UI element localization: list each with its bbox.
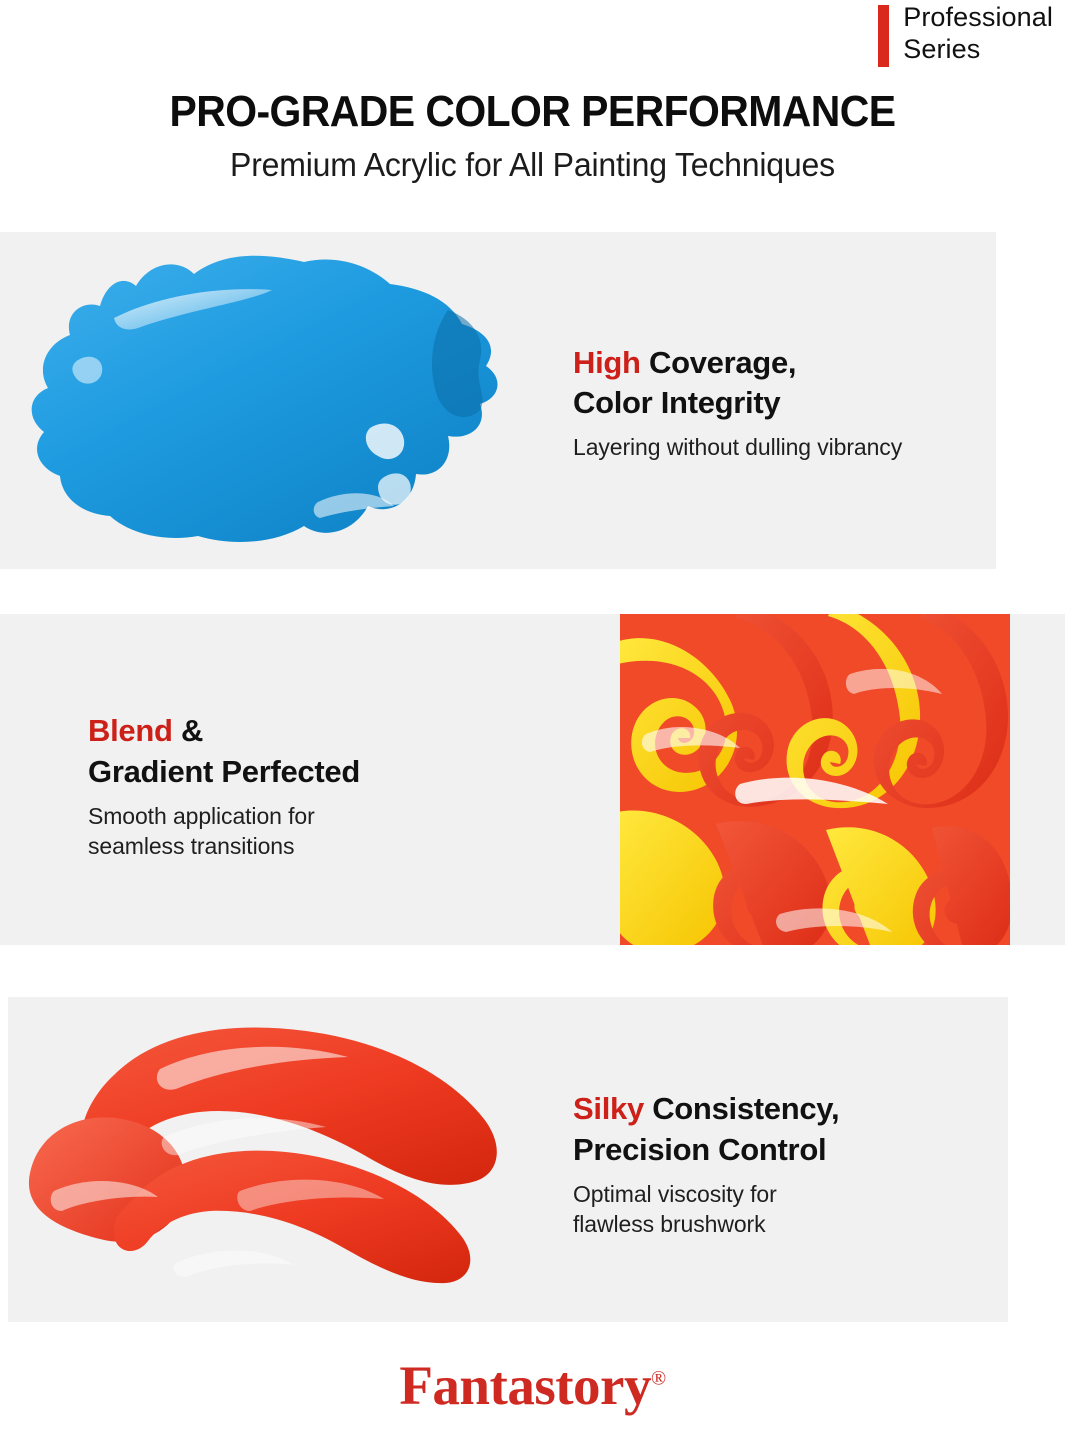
feature-caption-silky-consistency: Optimal viscosity for flawless brushwork [573,1179,839,1240]
feature-caption-high-coverage: Layering without dulling vibrancy [573,432,902,462]
feature-heading-line2: Color Integrity [573,385,780,420]
feature-caption-line-2: flawless brushwork [573,1209,839,1239]
brand-name: Fantastory [399,1355,651,1416]
feature-heading-silky-consistency: Silky Consistency, Precision Control [573,1089,839,1170]
feature-heading-rest: Coverage, [641,345,797,380]
red-paint-swatch-image [18,1015,518,1305]
professional-series-badge: Professional Series [878,2,1053,67]
page-title: PRO-GRADE COLOR PERFORMANCE [37,88,1027,136]
feature-heading-accent: Blend [88,713,173,748]
page-subtitle: Premium Acrylic for All Painting Techniq… [16,146,1049,184]
feature-heading-line2: Precision Control [573,1132,826,1167]
feature-heading-accent: Silky [573,1091,644,1126]
feature-panel-blend-gradient: Blend & Gradient Perfected Smooth applic… [0,614,1065,945]
feature-heading-rest: & [173,713,203,748]
badge-line-2: Series [903,34,1053,66]
footer: Fantastory® [0,1358,1065,1413]
registered-trademark-icon: ® [651,1368,666,1390]
feature-panel-high-coverage: High Coverage, Color Integrity Layering … [0,232,996,569]
badge-accent-bar [878,5,889,67]
feature-heading-rest: Consistency, [644,1091,839,1126]
feature-heading-accent: High [573,345,641,380]
feature-caption-line-2: seamless transitions [88,831,360,861]
feature-caption-line-1: Layering without dulling vibrancy [573,432,902,462]
feature-copy-high-coverage: High Coverage, Color Integrity Layering … [573,343,902,463]
feature-copy-silky-consistency: Silky Consistency, Precision Control Opt… [573,1089,839,1239]
feature-heading-high-coverage: High Coverage, Color Integrity [573,343,902,424]
badge-text: Professional Series [903,2,1053,66]
feature-caption-line-1: Optimal viscosity for [573,1179,839,1209]
blue-paint-swatch-image [18,240,518,565]
badge-line-1: Professional [903,2,1053,34]
feature-caption-line-1: Smooth application for [88,801,360,831]
feature-heading-line2: Gradient Perfected [88,754,360,789]
feature-heading-blend-gradient: Blend & Gradient Perfected [88,711,360,792]
feature-caption-blend-gradient: Smooth application for seamless transiti… [88,801,360,862]
orange-yellow-paint-swirl-image [620,614,1010,945]
brand-logo: Fantastory® [399,1358,665,1413]
feature-copy-blend-gradient: Blend & Gradient Perfected Smooth applic… [88,711,360,861]
feature-panel-silky-consistency: Silky Consistency, Precision Control Opt… [8,997,1008,1322]
header: PRO-GRADE COLOR PERFORMANCE Premium Acry… [0,88,1065,183]
